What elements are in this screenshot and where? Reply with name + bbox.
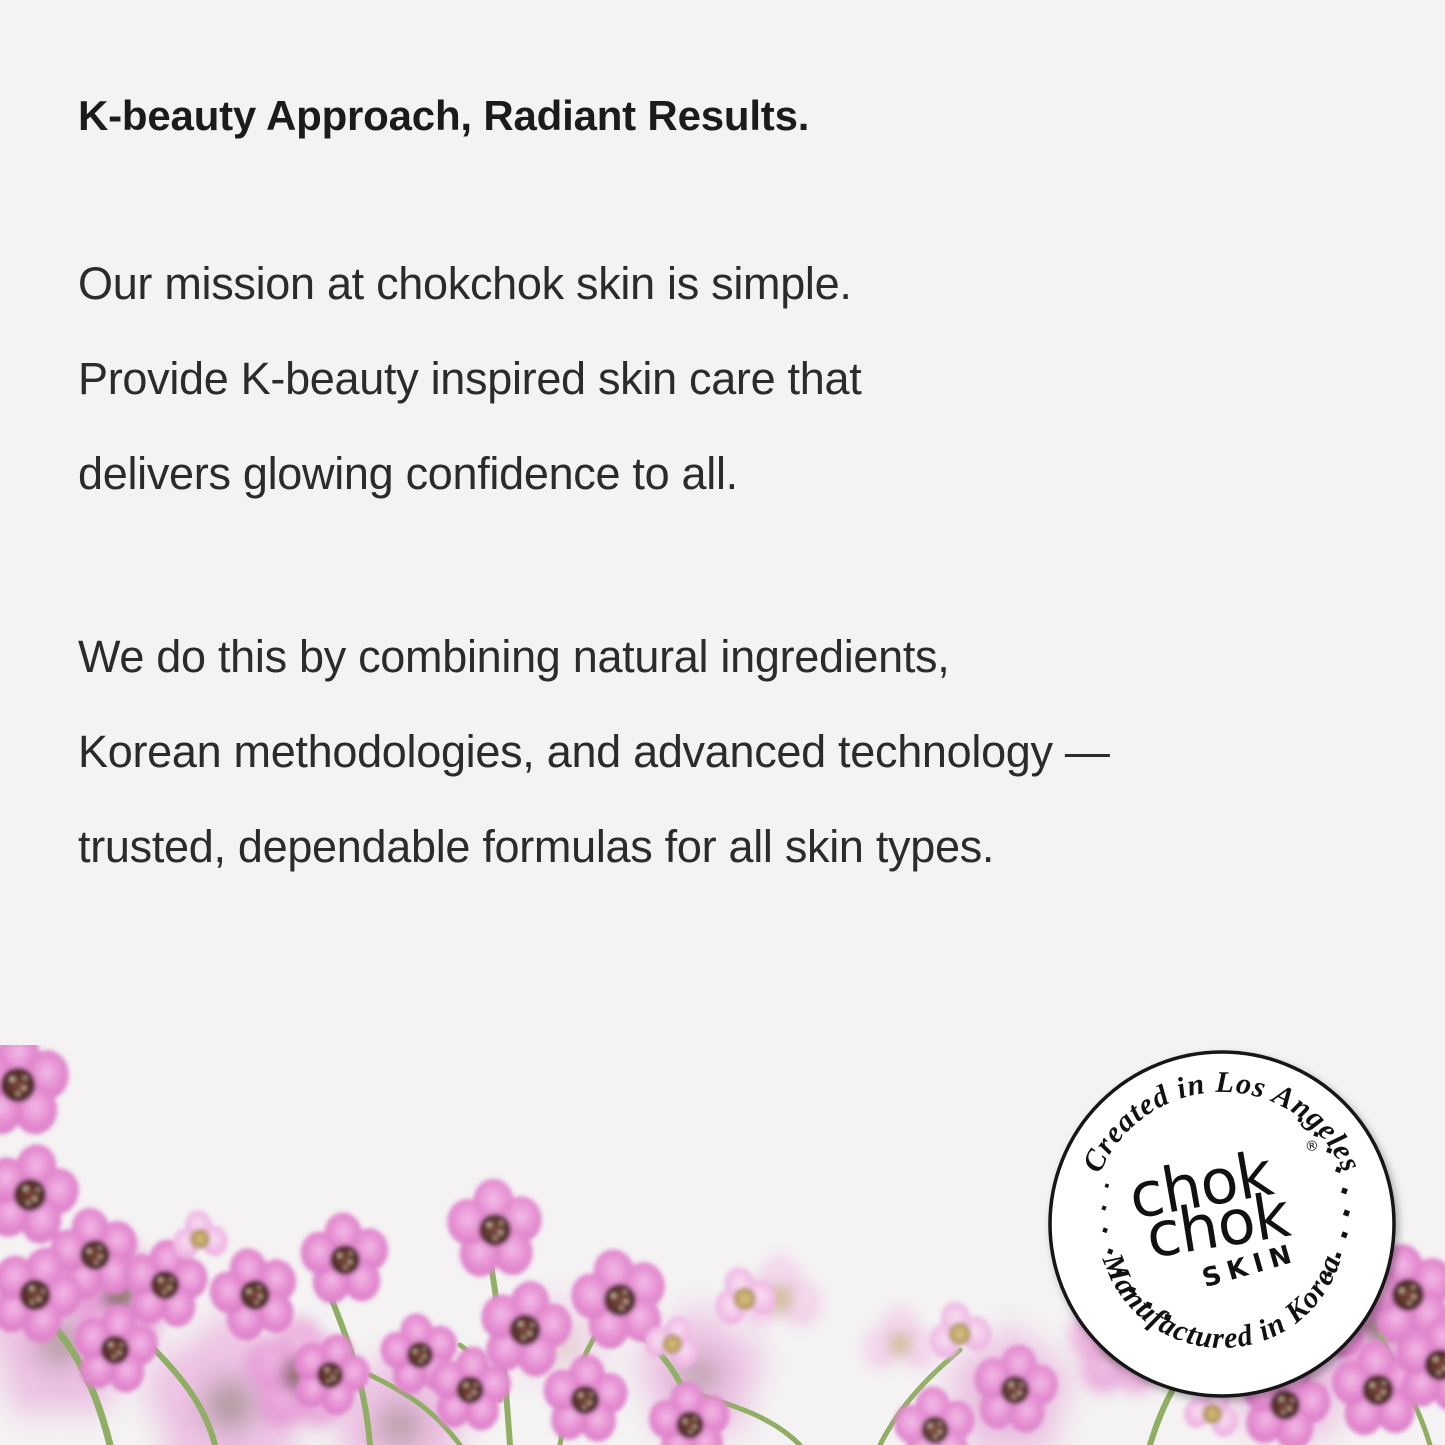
mission-line-1: Our mission at chokchok skin is simple. [78,236,1378,331]
brand-seal-svg: Created in Los Angeles Manufactured in K… [1046,1048,1398,1400]
method-line-3: trusted, dependable formulas for all ski… [78,799,1378,894]
method-line-1: We do this by combining natural ingredie… [78,609,1378,704]
brand-seal-badge: Created in Los Angeles Manufactured in K… [1046,1048,1398,1400]
method-line-2: Korean methodologies, and advanced techn… [78,704,1378,799]
mission-paragraph: Our mission at chokchok skin is simple. … [78,236,1378,521]
method-paragraph: We do this by combining natural ingredie… [78,609,1378,894]
mission-line-3: delivers glowing confidence to all. [78,426,1378,521]
text-content: K-beauty Approach, Radiant Results. Our … [78,0,1378,894]
mission-line-2: Provide K-beauty inspired skin care that [78,331,1378,426]
page-title: K-beauty Approach, Radiant Results. [78,92,1378,140]
